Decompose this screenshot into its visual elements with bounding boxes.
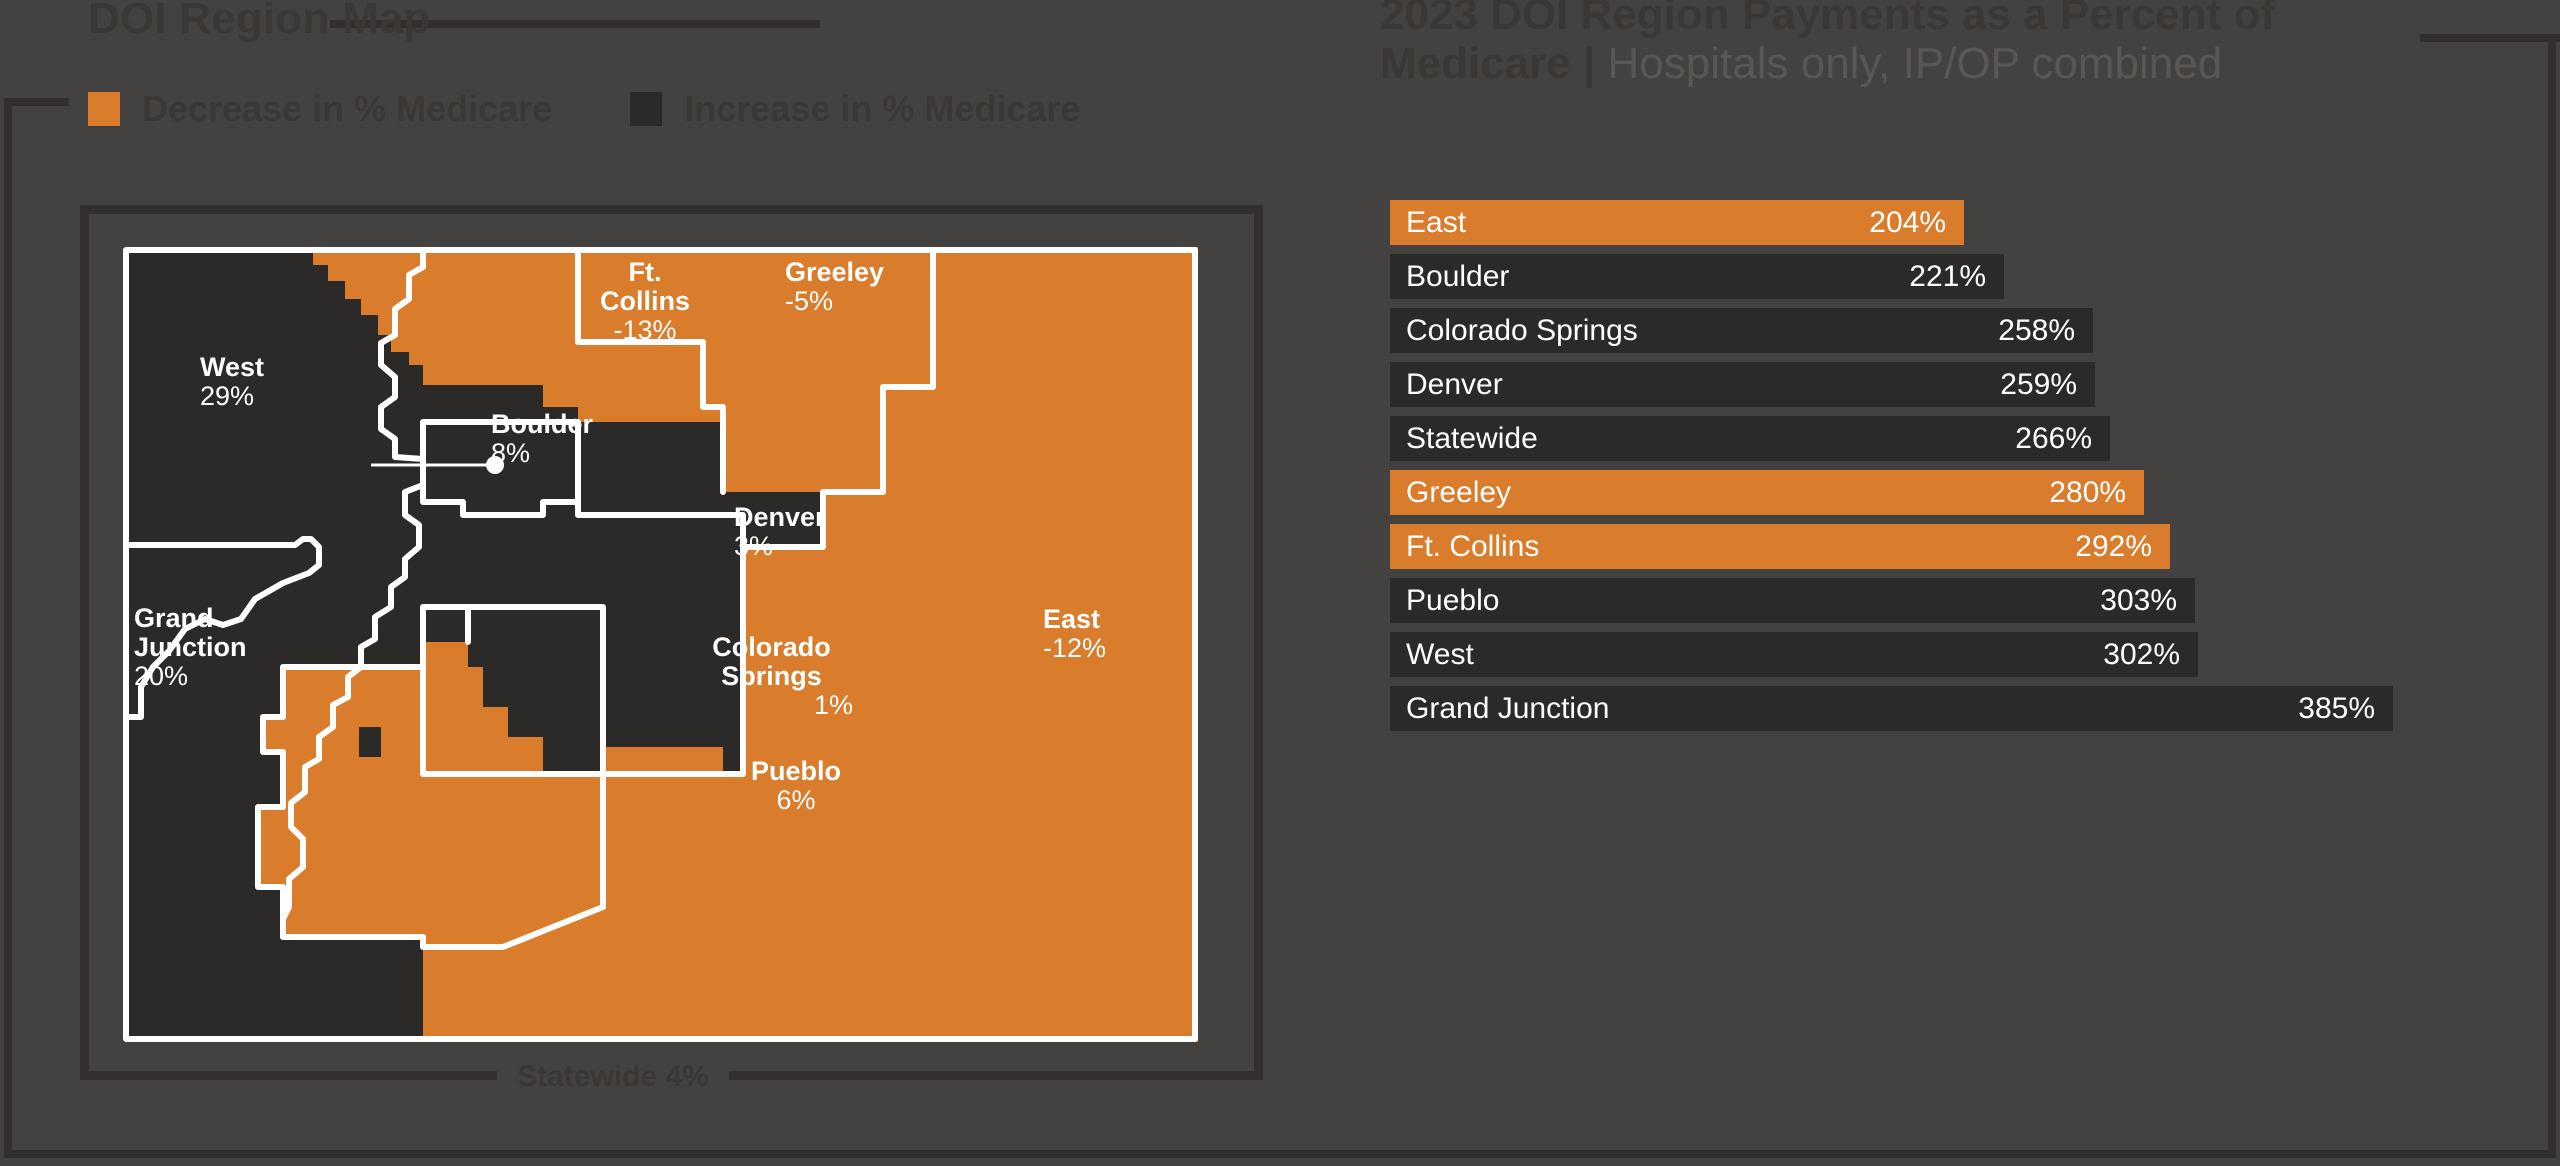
bar-denver[interactable]: Denver259% [1390, 362, 2095, 407]
map-label-gj-pct: 20% [134, 662, 247, 691]
bar-row: Statewide266% [1390, 416, 2560, 461]
map-label-west-pct: 29% [200, 382, 264, 411]
bar-region-label: Grand Junction [1406, 692, 1609, 726]
map-panel-title: DOI Region Map [88, 0, 431, 44]
bar-value-label: 258% [1998, 314, 2075, 348]
map-label-pueblo: Pueblo 6% [736, 757, 856, 815]
bar-greeley[interactable]: Greeley280% [1390, 470, 2144, 515]
legend-item-decrease: Decrease in % Medicare [88, 88, 552, 130]
map-label-denver: Denver 3% [734, 503, 826, 561]
bar-value-label: 259% [2000, 368, 2077, 402]
bar-grand-junction[interactable]: Grand Junction385% [1390, 686, 2393, 731]
bar-colorado-springs[interactable]: Colorado Springs258% [1390, 308, 2093, 353]
bar-statewide[interactable]: Statewide266% [1390, 416, 2110, 461]
map-label-west: West 29% [200, 353, 264, 411]
map-label-east-pct: -12% [1043, 634, 1106, 663]
map-legend: Decrease in % Medicare Increase in % Med… [88, 88, 1080, 130]
bar-value-label: 303% [2100, 584, 2177, 618]
bar-row: Colorado Springs258% [1390, 308, 2560, 353]
legend-swatch-decrease-icon [88, 92, 120, 126]
legend-swatch-increase-icon [630, 92, 662, 126]
map-label-gj-name-2: Junction [134, 633, 247, 662]
map-label-ftc-name-1: Ft. [585, 258, 705, 287]
map-label-pueblo-pct: 6% [736, 786, 856, 815]
bar-row: West302% [1390, 632, 2560, 677]
map-label-greeley-name: Greeley [785, 258, 884, 287]
bar-value-label: 266% [2015, 422, 2092, 456]
bar-ft-collins[interactable]: Ft. Collins292% [1390, 524, 2170, 569]
bar-region-label: West [1406, 638, 1474, 672]
bar-value-label: 221% [1909, 260, 1986, 294]
map-label-east-name: East [1043, 605, 1106, 634]
map-panel: DOI Region Map Decrease in % Medicare In… [0, 0, 1290, 1166]
map-label-pueblo-name: Pueblo [736, 757, 856, 786]
bar-chart-title-sub: Hospitals only, IP/OP combined [1608, 39, 2223, 88]
bar-row: Ft. Collins292% [1390, 524, 2560, 569]
bar-region-label: Greeley [1406, 476, 1511, 510]
bar-value-label: 385% [2298, 692, 2375, 726]
map-label-greeley-pct: -5% [785, 287, 884, 316]
bar-region-label: Pueblo [1406, 584, 1499, 618]
map-label-gj-name-1: Grand [134, 604, 247, 633]
map-label-greeley: Greeley -5% [785, 258, 884, 316]
bar-region-label: Ft. Collins [1406, 530, 1539, 564]
infographic-root: DOI Region Map Decrease in % Medicare In… [0, 0, 2560, 1166]
colorado-region-map [123, 247, 1198, 1042]
map-label-boulder-name: Boulder [491, 410, 593, 439]
map-label-west-name: West [200, 353, 264, 382]
bar-row: Greeley280% [1390, 470, 2560, 515]
bar-west[interactable]: West302% [1390, 632, 2198, 677]
map-label-denver-name: Denver [734, 503, 826, 532]
map-label-boulder-pct: 8% [491, 439, 593, 468]
bar-region-label: Boulder [1406, 260, 1509, 294]
bar-value-label: 204% [1869, 206, 1946, 240]
map-label-boulder: Boulder 8% [491, 410, 593, 468]
bar-region-label: Colorado Springs [1406, 314, 1638, 348]
bar-row: East204% [1390, 200, 2560, 245]
legend-label-decrease: Decrease in % Medicare [142, 88, 552, 130]
statewide-caption: Statewide 4% [497, 1057, 729, 1097]
map-label-grand-junction: Grand Junction 20% [134, 604, 247, 691]
bar-value-label: 302% [2103, 638, 2180, 672]
bar-east[interactable]: East204% [1390, 200, 1964, 245]
bar-region-label: Denver [1406, 368, 1503, 402]
bar-row: Grand Junction385% [1390, 686, 2560, 731]
map-label-east: East -12% [1043, 605, 1106, 663]
bar-row: Boulder221% [1390, 254, 2560, 299]
legend-item-increase: Increase in % Medicare [630, 88, 1080, 130]
map-label-cos-name-2: Springs [690, 662, 853, 691]
map-label-ftc-pct: -13% [585, 316, 705, 345]
bar-pueblo[interactable]: Pueblo303% [1390, 578, 2195, 623]
bar-row: Denver259% [1390, 362, 2560, 407]
bar-region-label: Statewide [1406, 422, 1538, 456]
bar-row: Pueblo303% [1390, 578, 2560, 623]
bar-chart-title: 2023 DOI Region Payments as a Percent of… [1380, 0, 2450, 89]
bar-region-label: East [1406, 206, 1466, 240]
map-label-colorado-springs: Colorado Springs 1% [690, 633, 853, 720]
map-label-ftc-name-2: Collins [585, 287, 705, 316]
bar-chart-bars: East204%Boulder221%Colorado Springs258%D… [1390, 200, 2560, 740]
bar-value-label: 292% [2075, 530, 2152, 564]
map-label-cos-pct: 1% [690, 691, 853, 720]
map-label-denver-pct: 3% [734, 532, 826, 561]
bar-chart-panel: 2023 DOI Region Payments as a Percent of… [1380, 0, 2560, 1166]
bar-boulder[interactable]: Boulder221% [1390, 254, 2004, 299]
bar-value-label: 280% [2049, 476, 2126, 510]
map-label-ft-collins: Ft. Collins -13% [585, 258, 705, 345]
map-label-cos-name-1: Colorado [690, 633, 853, 662]
legend-label-increase: Increase in % Medicare [684, 88, 1080, 130]
